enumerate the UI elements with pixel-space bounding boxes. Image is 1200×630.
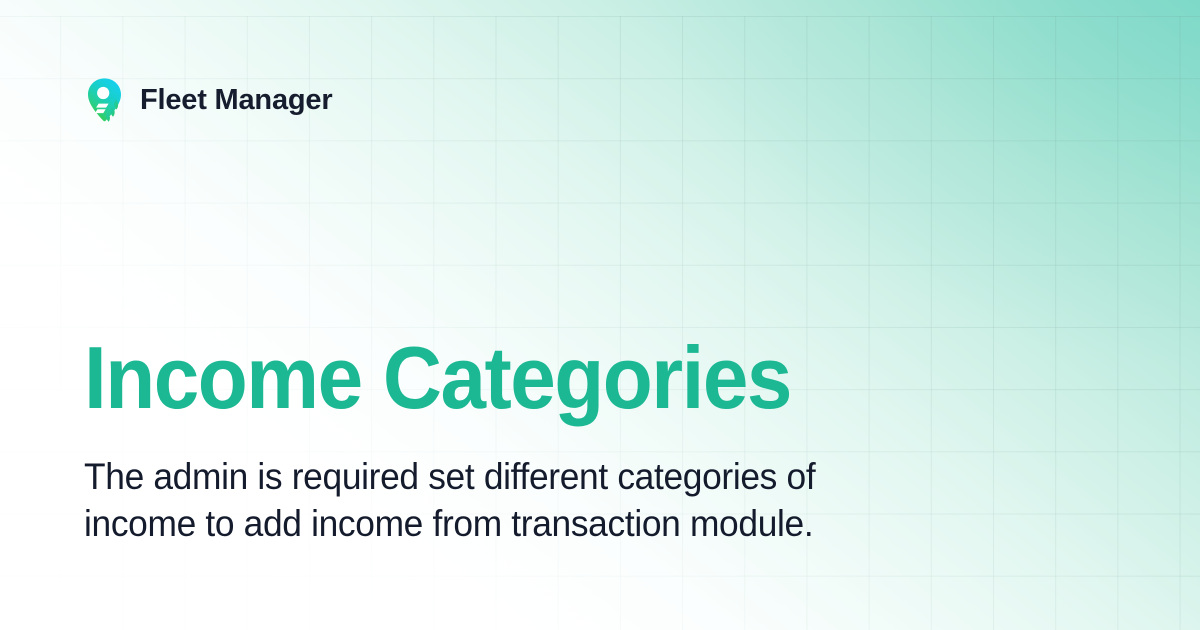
hero-text-block: Income Categories The admin is required … [84, 334, 964, 548]
page-description: The admin is required set different cate… [84, 454, 877, 548]
location-pin-leaf-logo-icon [84, 77, 126, 123]
banner-content: Fleet Manager Income Categories The admi… [0, 0, 1200, 630]
brand-name: Fleet Manager [140, 86, 332, 115]
page-title: Income Categories [84, 334, 902, 422]
og-banner-card: Fleet Manager Income Categories The admi… [0, 0, 1200, 630]
brand-lockup: Fleet Manager [84, 77, 332, 123]
